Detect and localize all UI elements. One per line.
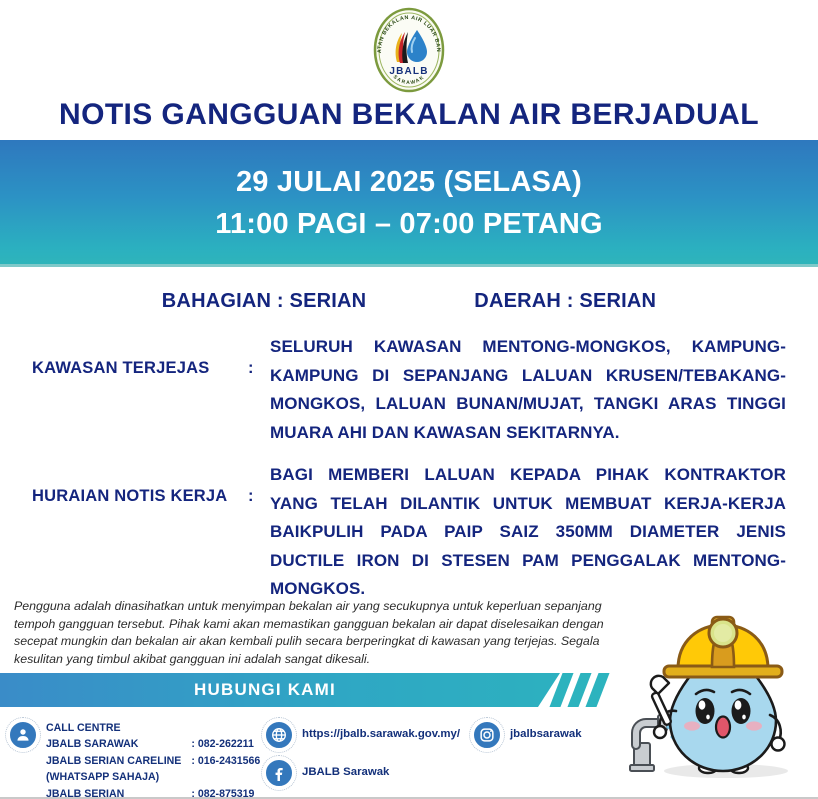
daerah-label: DAERAH : SERIAN bbox=[474, 290, 656, 313]
notice-time: 11:00 PAGI – 07:00 PETANG bbox=[215, 204, 603, 245]
detail-label: HURAIAN NOTIS KERJA bbox=[32, 461, 248, 507]
instagram-handle[interactable]: jbalbsarawak bbox=[510, 720, 582, 740]
detail-label: KAWASAN TERJEJAS bbox=[32, 333, 248, 379]
bahagian-label: BAHAGIAN : SERIAN bbox=[162, 290, 367, 313]
datetime-band: 29 JULAI 2025 (SELASA) 11:00 PAGI – 07:0… bbox=[0, 140, 818, 267]
call-centre-heading: CALL CENTRE bbox=[46, 720, 181, 736]
poster-header: JABATAN BEKALAN AIR LUAR BANDAR SARAWAK … bbox=[0, 0, 818, 140]
call-centre-heading-value bbox=[181, 720, 260, 736]
contact-note: (WHATSAPP SAHAJA) bbox=[46, 769, 181, 785]
page-title: NOTIS GANGGUAN BEKALAN AIR BERJADUAL bbox=[0, 98, 818, 132]
contact-instagram[interactable]: jbalbsarawak bbox=[472, 720, 582, 750]
contact-band: HUBUNGI KAMI bbox=[0, 673, 618, 707]
region-row: BAHAGIAN : SERIAN DAERAH : SERIAN bbox=[0, 267, 818, 329]
contact-website[interactable]: https://jbalb.sarawak.gov.my/ bbox=[264, 720, 460, 750]
detail-colon: : bbox=[248, 333, 270, 378]
jbalb-logo: JABATAN BEKALAN AIR LUAR BANDAR SARAWAK … bbox=[361, 6, 457, 94]
website-url[interactable]: https://jbalb.sarawak.gov.my/ bbox=[302, 720, 460, 740]
detail-row-kawasan-terjejas: KAWASAN TERJEJAS : SELURUH KAWASAN MENTO… bbox=[0, 333, 818, 447]
contact-value[interactable]: : 016-2431566 bbox=[181, 753, 260, 769]
notice-date: 29 JULAI 2025 (SELASA) bbox=[236, 162, 582, 203]
advisory-text: Pengguna adalah dinasihatkan untuk menyi… bbox=[14, 598, 614, 668]
call-centre-table: CALL CENTRE JBALB SARAWAK : 082-262211 J… bbox=[46, 720, 260, 799]
svg-text:JBALB: JBALB bbox=[389, 66, 428, 77]
globe-icon bbox=[264, 720, 294, 750]
facebook-handle[interactable]: JBALB Sarawak bbox=[302, 758, 389, 778]
details-section: KAWASAN TERJEJAS : SELURUH KAWASAN MENTO… bbox=[0, 329, 818, 604]
yellow-hard-hat bbox=[664, 617, 782, 677]
table-row: CALL CENTRE bbox=[46, 720, 260, 736]
instagram-icon bbox=[472, 720, 502, 750]
table-row: JBALB SERIAN CARELINE : 016-2431566 bbox=[46, 753, 260, 769]
table-row: (WHATSAPP SAHAJA) bbox=[46, 769, 260, 785]
facebook-icon bbox=[264, 758, 294, 788]
contact-band-title: HUBUNGI KAMI bbox=[0, 673, 530, 707]
detail-colon: : bbox=[248, 461, 270, 506]
person-icon bbox=[8, 720, 38, 750]
contact-call-centre: CALL CENTRE JBALB SARAWAK : 082-262211 J… bbox=[8, 720, 260, 799]
table-row: JBALB SARAWAK : 082-262211 bbox=[46, 736, 260, 752]
detail-row-huraian-notis-kerja: HURAIAN NOTIS KERJA : BAGI MEMBERI LALUA… bbox=[0, 461, 818, 604]
contact-name: JBALB SARAWAK bbox=[46, 736, 181, 752]
water-droplet-mascot bbox=[620, 593, 810, 793]
contact-value[interactable]: : 082-262211 bbox=[181, 736, 260, 752]
contact-facebook[interactable]: JBALB Sarawak bbox=[264, 758, 389, 788]
contact-name: JBALB SERIAN CARELINE bbox=[46, 753, 181, 769]
contact-note-value bbox=[181, 769, 260, 785]
detail-value: BAGI MEMBERI LALUAN KEPADA PIHAK KONTRAK… bbox=[270, 461, 792, 604]
notice-poster: JABATAN BEKALAN AIR LUAR BANDAR SARAWAK … bbox=[0, 0, 818, 799]
detail-value: SELURUH KAWASAN MENTONG-MONGKOS, KAMPUNG… bbox=[270, 333, 792, 447]
